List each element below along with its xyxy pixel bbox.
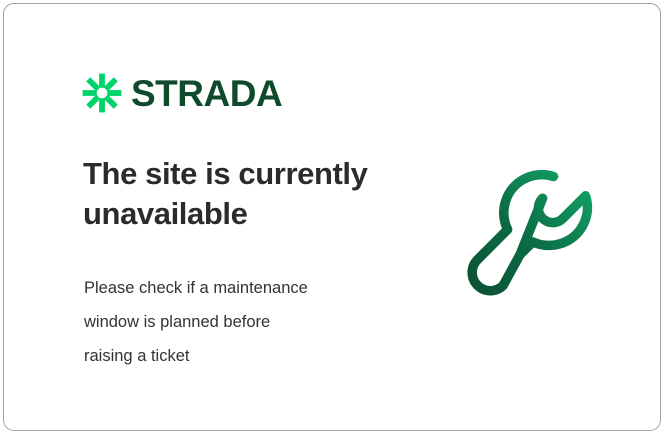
status-description: Please check if a maintenance window is … [84,272,404,373]
status-description-line: window is planned before [84,306,404,340]
status-description-line: raising a ticket [84,340,404,374]
wrench-icon [459,159,613,313]
brand-lockup: STRADA [82,73,282,113]
brand-wordmark: STRADA [131,75,282,112]
status-description-line: Please check if a maintenance [84,272,404,306]
status-card: STRADA The site is currently unavailable… [3,3,661,431]
page-title: The site is currently unavailable [83,154,443,235]
strada-asterisk-icon [82,73,122,113]
